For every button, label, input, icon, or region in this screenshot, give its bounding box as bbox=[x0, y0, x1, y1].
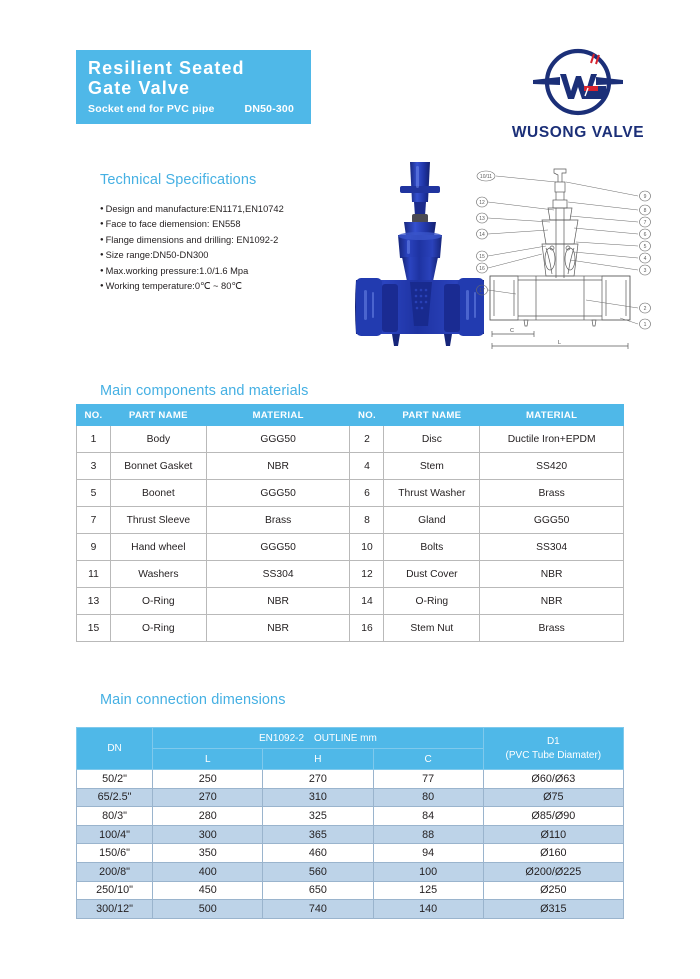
cell-l: 270 bbox=[153, 788, 263, 807]
cell-d1: Ø160 bbox=[483, 844, 623, 863]
cell-l: 400 bbox=[153, 862, 263, 881]
cell-mat: NBR bbox=[480, 588, 624, 615]
table-row: 100/4" 300 365 88 Ø110 bbox=[77, 825, 624, 844]
cell-mat: GGG50 bbox=[480, 507, 624, 534]
cell-no: 15 bbox=[77, 615, 111, 642]
cell-l: 350 bbox=[153, 844, 263, 863]
drawing-callout: 10/11 bbox=[480, 174, 492, 180]
cell-no: 3 bbox=[77, 453, 111, 480]
cell-d1: Ø110 bbox=[483, 825, 623, 844]
drawing-callout: 3 bbox=[644, 268, 647, 274]
cell-c: 94 bbox=[373, 844, 483, 863]
dimensions-table-header-row-1: DN EN1092-2 OUTLINE mm D1 (PVC Tube Diam… bbox=[77, 728, 624, 749]
materials-table-header-row: NO. PART NAME MATERIAL NO. PART NAME MAT… bbox=[77, 405, 624, 426]
table-row: 11 Washers SS304 12 Dust Cover NBR bbox=[77, 561, 624, 588]
technical-drawing: C L 10/11 12 13 14 15 bbox=[470, 160, 660, 356]
column-header-dn: DN bbox=[77, 728, 153, 770]
spec-item: Size range:DN50-DN300 bbox=[100, 248, 360, 263]
cell-part: Hand wheel bbox=[110, 534, 206, 561]
cell-mat: SS304 bbox=[480, 534, 624, 561]
cell-l: 280 bbox=[153, 807, 263, 826]
table-row: 15 O-Ring NBR 16 Stem Nut Brass bbox=[77, 615, 624, 642]
column-header-no-2: NO. bbox=[350, 405, 384, 426]
spec-item: Max.working pressure:1.0/1.6 Mpa bbox=[100, 264, 360, 279]
cell-c: 125 bbox=[373, 881, 483, 900]
cell-no: 16 bbox=[350, 615, 384, 642]
cell-h: 325 bbox=[263, 807, 373, 826]
drawing-callout: 8 bbox=[644, 208, 647, 214]
cell-c: 77 bbox=[373, 770, 483, 789]
cell-mat: NBR bbox=[206, 453, 350, 480]
cell-h: 740 bbox=[263, 900, 373, 919]
cell-h: 650 bbox=[263, 881, 373, 900]
drawing-callout: 4 bbox=[644, 256, 647, 262]
drawing-callout: 17 bbox=[479, 288, 485, 294]
cell-c: 80 bbox=[373, 788, 483, 807]
cell-part: Stem bbox=[384, 453, 480, 480]
cell-part: Gland bbox=[384, 507, 480, 534]
drawing-callout: 16 bbox=[479, 266, 485, 272]
cell-no: 10 bbox=[350, 534, 384, 561]
section-title-main-connection-dimensions: Main connection dimensions bbox=[100, 692, 286, 708]
drawing-dim-label-c: C bbox=[510, 328, 514, 334]
cell-part: O-Ring bbox=[110, 588, 206, 615]
table-row: 80/3" 280 325 84 Ø85/Ø90 bbox=[77, 807, 624, 826]
cell-h: 365 bbox=[263, 825, 373, 844]
drawing-callout: 6 bbox=[644, 232, 647, 238]
cell-l: 500 bbox=[153, 900, 263, 919]
cell-mat: SS420 bbox=[480, 453, 624, 480]
cell-mat: Brass bbox=[480, 480, 624, 507]
table-row: 50/2" 250 270 77 Ø60/Ø63 bbox=[77, 770, 624, 789]
cell-no: 13 bbox=[77, 588, 111, 615]
cell-dn: 300/12" bbox=[77, 900, 153, 919]
cell-part: Body bbox=[110, 426, 206, 453]
cell-no: 9 bbox=[77, 534, 111, 561]
table-row: 9 Hand wheel GGG50 10 Bolts SS304 bbox=[77, 534, 624, 561]
cell-dn: 50/2" bbox=[77, 770, 153, 789]
drawing-callout: 5 bbox=[644, 244, 647, 250]
cell-d1: Ø85/Ø90 bbox=[483, 807, 623, 826]
cell-mat: NBR bbox=[206, 588, 350, 615]
cell-dn: 150/6" bbox=[77, 844, 153, 863]
cell-no: 6 bbox=[350, 480, 384, 507]
cell-d1: Ø75 bbox=[483, 788, 623, 807]
cell-c: 84 bbox=[373, 807, 483, 826]
cell-d1: Ø250 bbox=[483, 881, 623, 900]
spec-item: Flange dimensions and drilling: EN1092-2 bbox=[100, 233, 360, 248]
product-title-line2: Gate Valve bbox=[88, 78, 311, 98]
cell-part: Stem Nut bbox=[384, 615, 480, 642]
cell-dn: 80/3" bbox=[77, 807, 153, 826]
table-row: 13 O-Ring NBR 14 O-Ring NBR bbox=[77, 588, 624, 615]
spec-item: Working temperature:0℃ ~ 80℃ bbox=[100, 279, 360, 294]
cell-c: 140 bbox=[373, 900, 483, 919]
cell-l: 250 bbox=[153, 770, 263, 789]
cell-part: Bolts bbox=[384, 534, 480, 561]
column-header-l: L bbox=[153, 749, 263, 770]
company-logo: WUSONG VALVE bbox=[498, 42, 658, 152]
column-header-d1-line2: (PVC Tube Diamater) bbox=[485, 749, 622, 763]
cell-part: Thrust Washer bbox=[384, 480, 480, 507]
table-row: 5 Boonet GGG50 6 Thrust Washer Brass bbox=[77, 480, 624, 507]
cell-part: O-Ring bbox=[110, 615, 206, 642]
cell-mat: NBR bbox=[206, 615, 350, 642]
cell-part: Bonnet Gasket bbox=[110, 453, 206, 480]
cell-d1: Ø60/Ø63 bbox=[483, 770, 623, 789]
logo-mark-icon bbox=[498, 42, 658, 122]
drawing-callout: 1 bbox=[644, 322, 647, 328]
logo-brand-text: WUSONG VALVE bbox=[498, 124, 658, 142]
cell-mat: SS304 bbox=[206, 561, 350, 588]
table-row: 150/6" 350 460 94 Ø160 bbox=[77, 844, 624, 863]
table-row: 250/10" 450 650 125 Ø250 bbox=[77, 881, 624, 900]
technical-specifications-list: Design and manufacture:EN1171,EN10742 Fa… bbox=[100, 202, 360, 294]
drawing-dim-label-l: L bbox=[558, 340, 561, 346]
cell-dn: 250/10" bbox=[77, 881, 153, 900]
cell-mat: GGG50 bbox=[206, 480, 350, 507]
cell-part: Boonet bbox=[110, 480, 206, 507]
cell-mat: NBR bbox=[480, 561, 624, 588]
table-row: 300/12" 500 740 140 Ø315 bbox=[77, 900, 624, 919]
product-title-line1: Resilient Seated bbox=[88, 58, 311, 78]
cell-d1: Ø200/Ø225 bbox=[483, 862, 623, 881]
cell-no: 1 bbox=[77, 426, 111, 453]
cell-h: 560 bbox=[263, 862, 373, 881]
cell-no: 14 bbox=[350, 588, 384, 615]
cell-h: 460 bbox=[263, 844, 373, 863]
cell-h: 270 bbox=[263, 770, 373, 789]
column-header-mat-1: MATERIAL bbox=[206, 405, 350, 426]
cell-part: Thrust Sleeve bbox=[110, 507, 206, 534]
section-title-main-components: Main components and materials bbox=[100, 383, 308, 399]
cell-dn: 100/4" bbox=[77, 825, 153, 844]
drawing-callout: 13 bbox=[479, 216, 485, 222]
drawing-callout: 12 bbox=[479, 200, 485, 206]
table-row: 7 Thrust Sleeve Brass 8 Gland GGG50 bbox=[77, 507, 624, 534]
cell-dn: 200/8" bbox=[77, 862, 153, 881]
cell-part: Dust Cover bbox=[384, 561, 480, 588]
column-header-no-1: NO. bbox=[77, 405, 111, 426]
dimensions-table: DN EN1092-2 OUTLINE mm D1 (PVC Tube Diam… bbox=[76, 727, 624, 919]
product-subtitle-row: Socket end for PVC pipe DN50-300 bbox=[88, 103, 311, 115]
cell-part: O-Ring bbox=[384, 588, 480, 615]
cell-d1: Ø315 bbox=[483, 900, 623, 919]
column-header-h: H bbox=[263, 749, 373, 770]
cell-l: 450 bbox=[153, 881, 263, 900]
page-header: Resilient Seated Gate Valve Socket end f… bbox=[0, 0, 700, 155]
table-row: 65/2.5" 270 310 80 Ø75 bbox=[77, 788, 624, 807]
cell-part: Disc bbox=[384, 426, 480, 453]
column-header-part-2: PART NAME bbox=[384, 405, 480, 426]
column-header-part-1: PART NAME bbox=[110, 405, 206, 426]
cell-no: 8 bbox=[350, 507, 384, 534]
column-header-d1: D1 (PVC Tube Diamater) bbox=[483, 728, 623, 770]
column-header-c: C bbox=[373, 749, 483, 770]
table-row: 200/8" 400 560 100 Ø200/Ø225 bbox=[77, 862, 624, 881]
cell-mat: GGG50 bbox=[206, 534, 350, 561]
cell-mat: Brass bbox=[206, 507, 350, 534]
cell-mat: GGG50 bbox=[206, 426, 350, 453]
drawing-callout: 9 bbox=[644, 194, 647, 200]
cell-no: 2 bbox=[350, 426, 384, 453]
cell-dn: 65/2.5" bbox=[77, 788, 153, 807]
cell-mat: Ductile Iron+EPDM bbox=[480, 426, 624, 453]
drawing-callout: 2 bbox=[644, 306, 647, 312]
spec-item: Face to face diemension: EN558 bbox=[100, 217, 360, 232]
product-size-range: DN50-300 bbox=[245, 103, 294, 115]
drawing-callout: 14 bbox=[479, 232, 485, 238]
product-title-banner: Resilient Seated Gate Valve Socket end f… bbox=[76, 50, 311, 124]
cell-no: 5 bbox=[77, 480, 111, 507]
column-header-d1-line1: D1 bbox=[485, 735, 622, 749]
spec-item: Design and manufacture:EN1171,EN10742 bbox=[100, 202, 360, 217]
cell-no: 11 bbox=[77, 561, 111, 588]
drawing-callout: 7 bbox=[644, 220, 647, 226]
section-title-technical-specifications: Technical Specifications bbox=[100, 172, 256, 188]
cell-c: 88 bbox=[373, 825, 483, 844]
product-subtitle: Socket end for PVC pipe bbox=[88, 103, 215, 115]
column-header-outline-group: EN1092-2 OUTLINE mm bbox=[153, 728, 484, 749]
table-row: 1 Body GGG50 2 Disc Ductile Iron+EPDM bbox=[77, 426, 624, 453]
materials-table: NO. PART NAME MATERIAL NO. PART NAME MAT… bbox=[76, 404, 624, 642]
cell-l: 300 bbox=[153, 825, 263, 844]
cell-no: 12 bbox=[350, 561, 384, 588]
cell-mat: Brass bbox=[480, 615, 624, 642]
column-header-mat-2: MATERIAL bbox=[480, 405, 624, 426]
cell-c: 100 bbox=[373, 862, 483, 881]
cell-h: 310 bbox=[263, 788, 373, 807]
cell-no: 7 bbox=[77, 507, 111, 534]
cell-part: Washers bbox=[110, 561, 206, 588]
cell-no: 4 bbox=[350, 453, 384, 480]
drawing-callout: 15 bbox=[479, 254, 485, 260]
table-row: 3 Bonnet Gasket NBR 4 Stem SS420 bbox=[77, 453, 624, 480]
